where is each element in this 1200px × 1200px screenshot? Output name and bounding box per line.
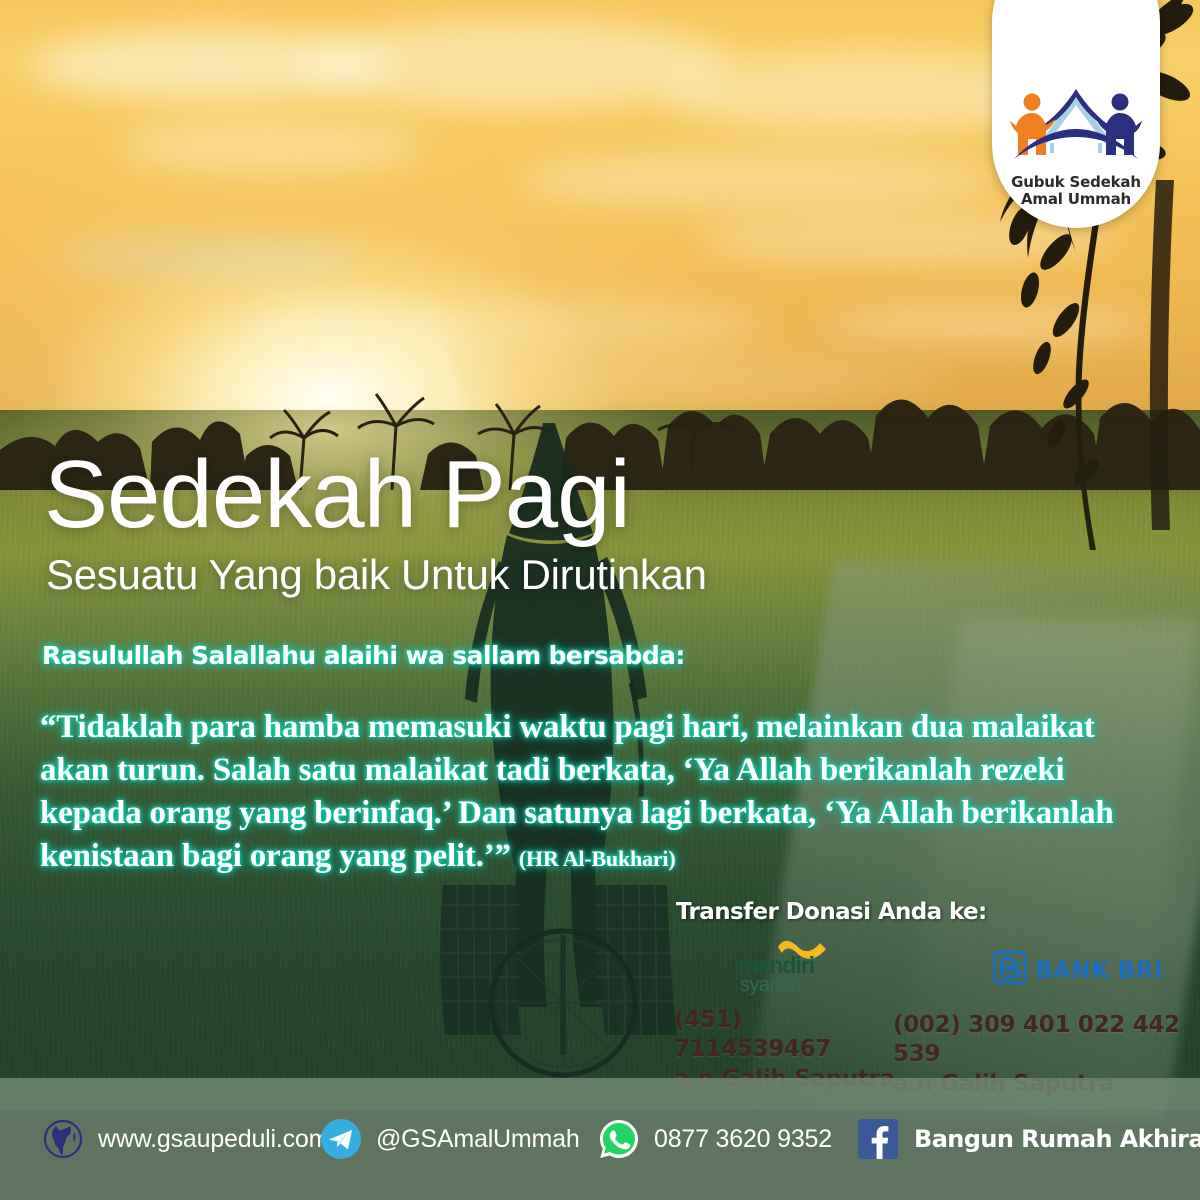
hadith-source: (HR Al-Bukhari) (519, 846, 676, 871)
page-subtitle: Sesuatu Yang baik Untuk Dirutinkan (46, 551, 707, 599)
bank-account-bri: BANK BRI (002) 309 401 022 442 539 a.n G… (893, 950, 1183, 1099)
facebook-icon (858, 1119, 898, 1159)
footer-facebook[interactable]: Bangun Rumah Akhirat (858, 1119, 1200, 1159)
logo-line-2: Amal Ummah (1011, 191, 1141, 208)
whatsapp-icon (598, 1118, 640, 1160)
page-title: Sedekah Pagi (44, 447, 630, 543)
organization-logo-badge: Gubuk Sedekah Amal Ummah (992, 0, 1160, 228)
mandiri-syariah-logo: mandiri syariah (734, 935, 854, 995)
footer-whatsapp[interactable]: 0877 3620 9352 (598, 1118, 832, 1160)
cloud (60, 235, 360, 280)
organization-name: Gubuk Sedekah Amal Ummah (1011, 174, 1141, 208)
telegram-label: @GSAmalUmmah (376, 1125, 580, 1154)
whatsapp-label: 0877 3620 9352 (654, 1125, 832, 1154)
telegram-icon (320, 1118, 362, 1160)
footer-website[interactable]: www.gsaupeduli.com (42, 1118, 329, 1160)
svg-text:syariah: syariah (740, 974, 800, 995)
mandiri-account-number: (451) 7114539467 (674, 1006, 904, 1065)
cloud (520, 150, 1000, 210)
donation-heading: Transfer Donasi Anda ke: (676, 899, 987, 925)
globe-icon (42, 1118, 84, 1160)
cloud (120, 120, 420, 172)
poster-canvas: Gubuk Sedekah Amal Ummah Sedekah Pagi Se… (0, 0, 1200, 1200)
website-label: www.gsaupeduli.com (98, 1125, 329, 1154)
svg-text:BANK BRI: BANK BRI (1035, 958, 1163, 984)
hadith-intro: Rasulullah Salallahu alaihi wa sallam be… (42, 641, 685, 670)
bank-bri-logo: BANK BRI (993, 950, 1163, 986)
footer-bar: www.gsaupeduli.com @GSAmalUmmah 0877 362… (0, 1078, 1200, 1200)
facebook-label: Bangun Rumah Akhirat (914, 1125, 1200, 1153)
bank-account-mandiri: mandiri syariah (451) 7114539467 a.n Gal… (674, 935, 904, 1094)
logo-line-1: Gubuk Sedekah (1011, 174, 1141, 191)
footer-telegram[interactable]: @GSAmalUmmah (320, 1118, 580, 1160)
bri-account-number: (002) 309 401 022 442 539 (893, 1011, 1183, 1070)
house-with-two-people-icon (1010, 85, 1142, 171)
hadith-body: “Tidaklah para hamba memasuki waktu pagi… (40, 706, 1145, 878)
